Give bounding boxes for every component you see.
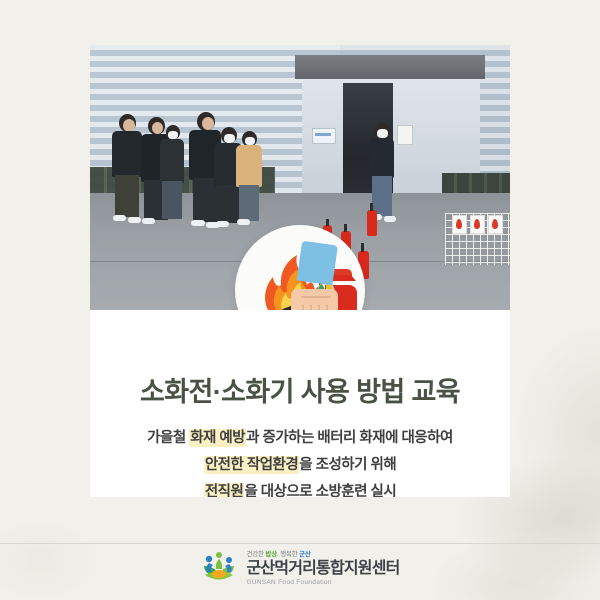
body-line: 전직원을 대상으로 소방훈련 실시 (90, 479, 510, 497)
fire-target-poster (452, 215, 467, 234)
fire-target-poster (470, 215, 485, 234)
trainee-shoe (142, 218, 155, 224)
tagline-blue: 군산 (299, 551, 311, 558)
trainee-legs (162, 181, 182, 219)
trainee-body (112, 131, 142, 177)
tagline-green: 밥상 (265, 551, 277, 558)
safety-notice (397, 125, 413, 145)
organization-name-en: GUNSAN Food Foundation (246, 580, 399, 587)
instructor-body (369, 138, 394, 178)
body-line-post: 을 대상으로 소방훈련 실시 (244, 484, 396, 497)
body-line-highlight: 화재 예방 (189, 429, 246, 447)
tagline-mid: , 행복한 (277, 551, 299, 558)
body-line: 안전한 작업환경을 조성하기 위해 (90, 452, 510, 479)
extinguisher-neck (326, 219, 329, 226)
instructor-mask (377, 129, 388, 138)
hand (291, 289, 338, 310)
trainee-shoe (191, 220, 205, 226)
gunsan-food-foundation-logo-icon (200, 551, 238, 587)
trainee-face (152, 122, 163, 134)
trainee-mask (224, 134, 235, 143)
trainee-legs (115, 175, 139, 217)
page-title: 소화전·소화기 사용 방법 교육 (90, 370, 510, 409)
tagline-prefix: 건강한 (246, 551, 265, 558)
extinguisher-neck (361, 243, 364, 252)
body-text: 가을철 화재 예방과 증가하는 배터리 화재에 대응하여 안전한 작업환경을 조… (90, 425, 510, 497)
trainee-shoe (113, 215, 126, 221)
trainee-mask (168, 131, 178, 139)
trainee-shoe (128, 217, 141, 223)
fire-extinguisher (367, 210, 377, 236)
wall-sign-band (315, 133, 331, 136)
trainee-body (160, 139, 184, 183)
footer: 건강한 밥상, 행복한 군산 군산먹거리통합지원센터 GUNSAN Food F… (0, 546, 600, 592)
trainee-shoe (216, 221, 229, 227)
trainee-shoe (237, 219, 250, 225)
extinguisher-neck (344, 224, 347, 232)
footer-tagline: 건강한 밥상, 행복한 군산 (246, 552, 399, 559)
wall-sign (312, 128, 336, 144)
trainee-legs (239, 185, 259, 221)
organization-name: 군산먹거리통합지원센터 (246, 561, 399, 577)
training-photo (90, 45, 510, 310)
fire-target-poster (488, 215, 503, 234)
extinguisher-neck (370, 203, 373, 211)
door-canopy (295, 55, 485, 79)
sleeve (297, 241, 338, 286)
instructor-shoe (384, 216, 396, 222)
body-line-post: 을 조성하기 위해 (299, 457, 396, 473)
trainee-face (202, 117, 214, 130)
footer-divider (0, 543, 600, 544)
text-panel: 소화전·소화기 사용 방법 교육 가을철 화재 예방과 증가하는 배터리 화재에… (90, 310, 510, 497)
body-line-highlight: 안전한 작업환경 (204, 456, 299, 474)
poster-card: 소화전·소화기 사용 방법 교육 가을철 화재 예방과 증가하는 배터리 화재에… (90, 45, 510, 497)
body-line-pre: 가을철 (147, 430, 189, 446)
body-line-post: 과 증가하는 배터리 화재에 대응하여 (246, 430, 453, 446)
trainee-legs (217, 185, 239, 223)
body-line: 가을철 화재 예방과 증가하는 배터리 화재에 대응하여 (90, 425, 510, 452)
trainee-mask (245, 137, 255, 145)
trainee-body (236, 145, 262, 187)
body-line-highlight: 전직원 (204, 483, 245, 497)
